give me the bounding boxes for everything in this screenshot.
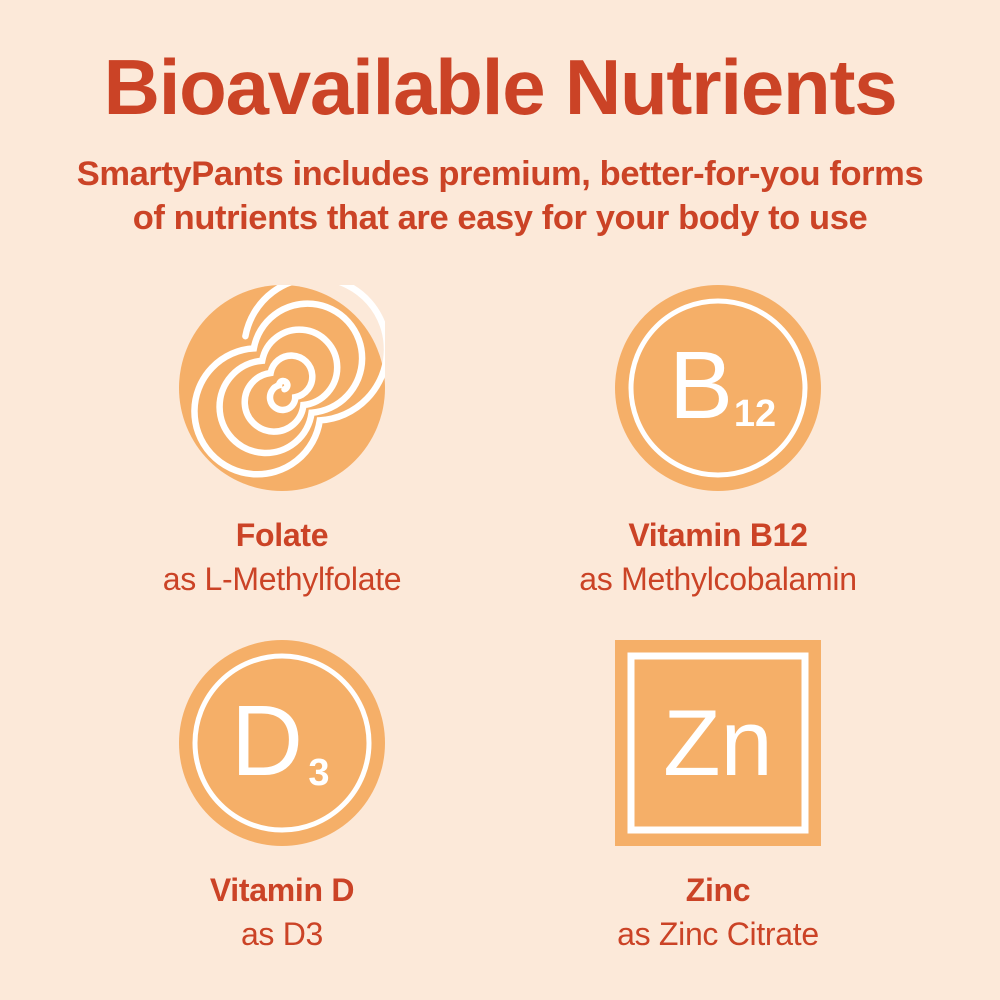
icon-container: B 12 bbox=[508, 282, 928, 492]
nutrient-name: Vitamin D bbox=[72, 870, 492, 912]
nutrient-labels: Vitamin D as D3 bbox=[72, 870, 492, 955]
nutrient-grid: Folate as L-Methylfolate B 12 Vitamin B1… bbox=[0, 282, 1000, 982]
page-title: Bioavailable Nutrients bbox=[0, 48, 1000, 126]
page-subtitle: SmartyPants includes premium, better-for… bbox=[0, 152, 1000, 240]
nutrient-card-vitamin-b12: B 12 Vitamin B12 as Methylcobalamin bbox=[508, 282, 928, 600]
nutrient-form: as D3 bbox=[72, 914, 492, 956]
nutrient-card-vitamin-d: D 3 Vitamin D as D3 bbox=[72, 637, 492, 955]
zinc-square-icon: Zn bbox=[615, 640, 821, 846]
nutrient-labels: Vitamin B12 as Methylcobalamin bbox=[508, 515, 928, 600]
nutrient-name: Folate bbox=[72, 515, 492, 557]
subtitle-line-2: of nutrients that are easy for your body… bbox=[0, 196, 1000, 240]
icon-container bbox=[72, 282, 492, 492]
nutrient-form: as L-Methylfolate bbox=[72, 559, 492, 601]
nutrient-name: Zinc bbox=[508, 870, 928, 912]
icon-container: Zn bbox=[508, 637, 928, 847]
d3-letter: D bbox=[231, 685, 303, 797]
nutrient-card-folate: Folate as L-Methylfolate bbox=[72, 282, 492, 600]
icon-container: D 3 bbox=[72, 637, 492, 847]
header: Bioavailable Nutrients SmartyPants inclu… bbox=[0, 48, 1000, 240]
d3-subscript: 3 bbox=[308, 752, 329, 794]
subtitle-line-1: SmartyPants includes premium, better-for… bbox=[0, 152, 1000, 196]
b12-subscript: 12 bbox=[734, 393, 776, 435]
nutrient-name: Vitamin B12 bbox=[508, 515, 928, 557]
d3-circle-icon: D 3 bbox=[179, 640, 385, 846]
nutrient-form: as Methylcobalamin bbox=[508, 559, 928, 601]
nutrient-card-zinc: Zn Zinc as Zinc Citrate bbox=[508, 637, 928, 955]
zinc-letters: Zn bbox=[663, 690, 773, 795]
nutrient-form: as Zinc Citrate bbox=[508, 914, 928, 956]
b12-letter: B bbox=[669, 332, 733, 439]
b12-circle-icon: B 12 bbox=[615, 285, 821, 491]
nutrient-labels: Folate as L-Methylfolate bbox=[72, 515, 492, 600]
nutrient-infographic: Bioavailable Nutrients SmartyPants inclu… bbox=[0, 0, 1000, 1000]
spiral-icon bbox=[179, 285, 385, 491]
nutrient-labels: Zinc as Zinc Citrate bbox=[508, 870, 928, 955]
